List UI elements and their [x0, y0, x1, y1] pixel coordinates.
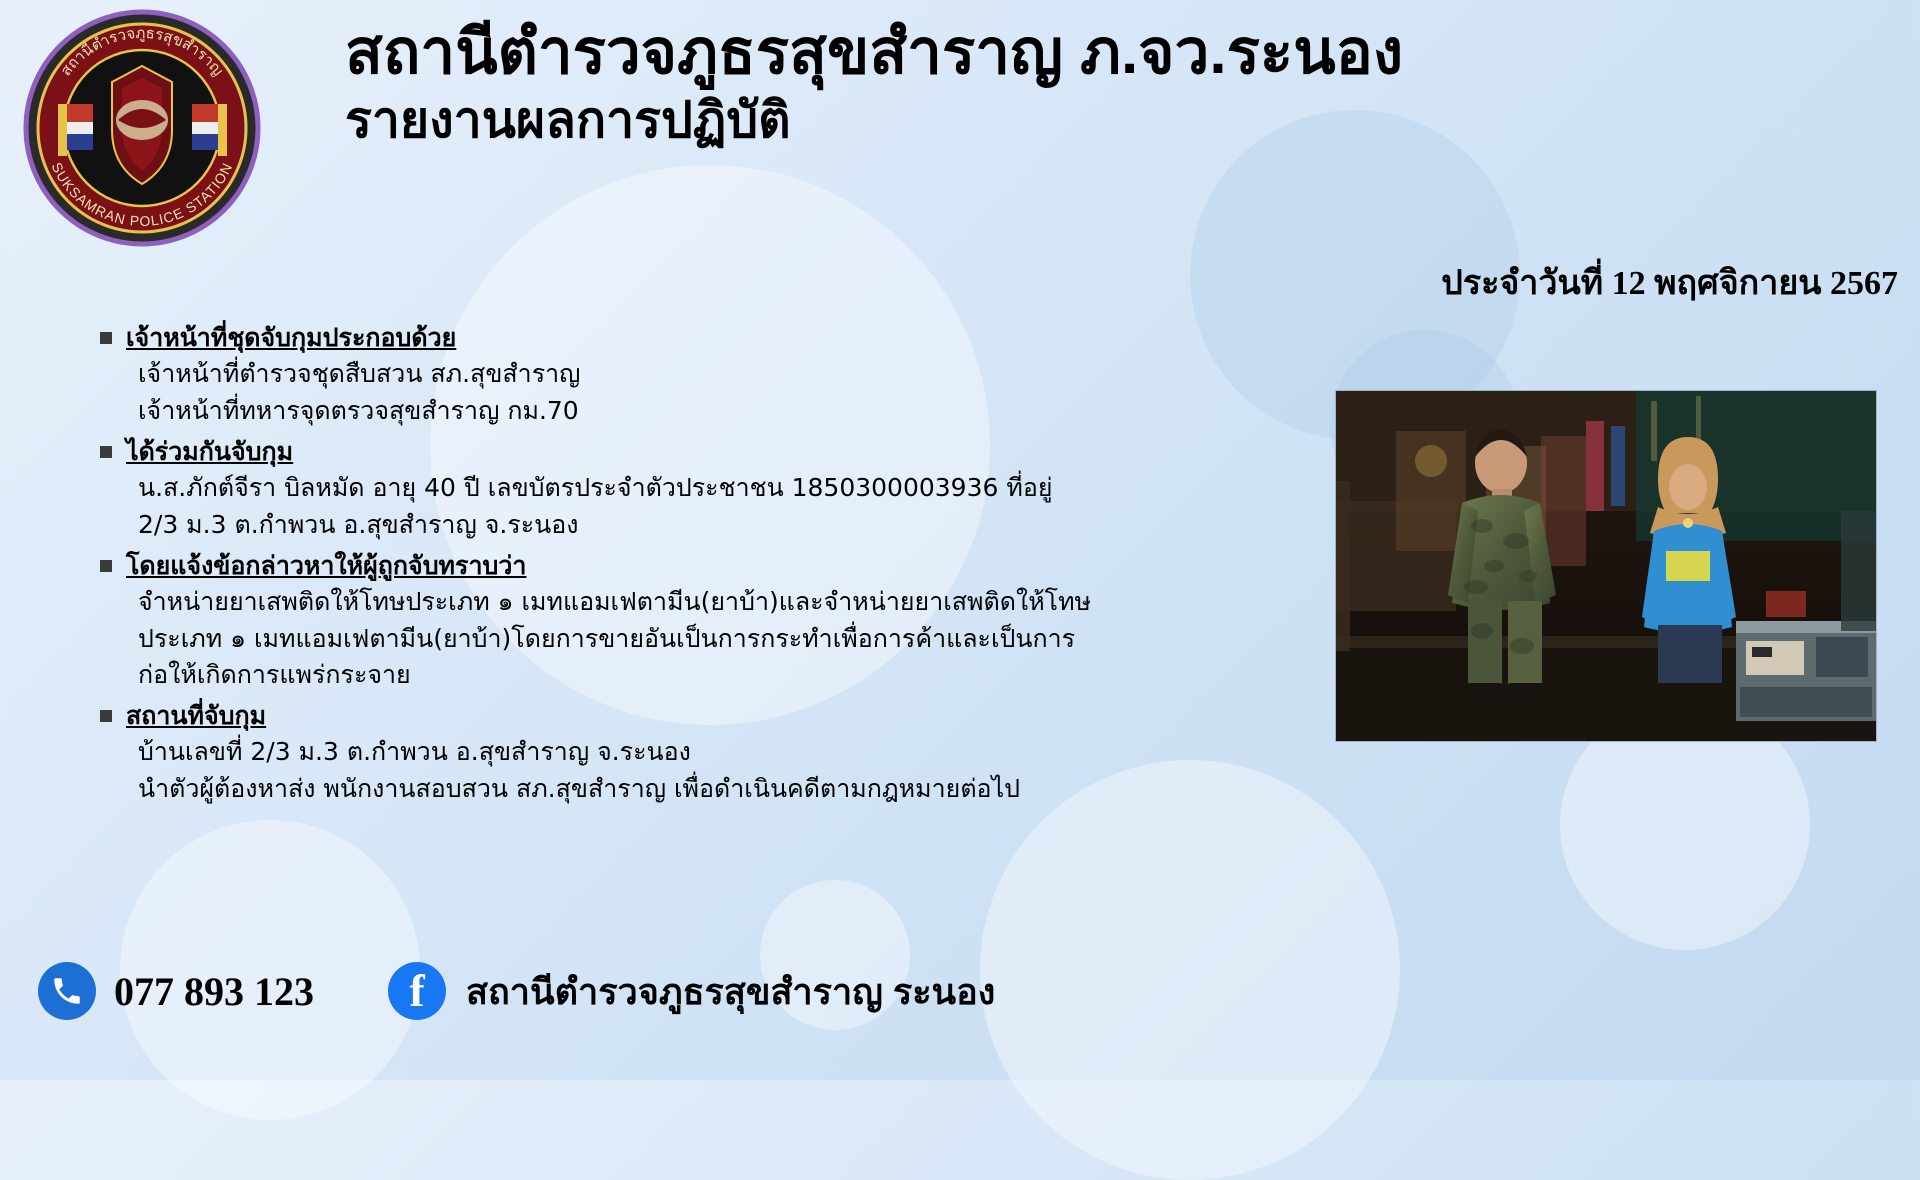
section-heading-row: สถานที่จับกุม [100, 698, 1200, 734]
phone-icon [38, 962, 96, 1020]
section-heading: สถานที่จับกุม [126, 698, 266, 734]
section-line: น.ส.ภักต์จีรา บิลหมัด อายุ 40 ปี เลขบัตร… [138, 470, 1200, 507]
police-emblem-logo: สถานีตำรวจภูธรสุขสำราญ SUKSAMRAN POLICE … [22, 8, 262, 248]
section-block: เจ้าหน้าที่ชุดจับกุมประกอบด้วย เจ้าหน้าท… [100, 320, 1200, 430]
phone-number: 077 893 123 [114, 968, 314, 1015]
section-line: เจ้าหน้าที่ตำรวจชุดสืบสวน สภ.สุขสำราญ [138, 356, 1200, 393]
section-heading-row: ได้ร่วมกันจับกุม [100, 434, 1200, 470]
section-line: ก่อให้เกิดการแพร่กระจาย [138, 657, 1200, 694]
bullet-square-icon [100, 332, 112, 344]
section-line: บ้านเลขที่ 2/3 ม.3 ต.กำพวน อ.สุขสำราญ จ.… [138, 734, 1200, 771]
page-footer: 077 893 123 f สถานีตำรวจภูธรสุขสำราญ ระน… [0, 940, 1920, 1080]
bullet-square-icon [100, 446, 112, 458]
section-block: โดยแจ้งข้อกล่าวหาให้ผู้ถูกจับทราบว่า จำห… [100, 548, 1200, 695]
section-heading: เจ้าหน้าที่ชุดจับกุมประกอบด้วย [126, 320, 456, 356]
section-block: ได้ร่วมกันจับกุม น.ส.ภักต์จีรา บิลหมัด อ… [100, 434, 1200, 544]
report-body: เจ้าหน้าที่ชุดจับกุมประกอบด้วย เจ้าหน้าท… [100, 320, 1200, 812]
arrest-photo [1335, 390, 1877, 742]
bullet-square-icon [100, 710, 112, 722]
section-line: ประเภท ๑ เมทแอมเฟตามีน(ยาบ้า)โดยการขายอั… [138, 621, 1200, 658]
bullet-square-icon [100, 560, 112, 572]
section-line: นำตัวผู้ต้องหาส่ง พนักงานสอบสวน สภ.สุขสำ… [138, 771, 1200, 808]
section-heading: ได้ร่วมกันจับกุม [126, 434, 293, 470]
page-subtitle: รายงานผลการปฏิบัติ [345, 93, 1403, 148]
page-title: สถานีตำรวจภูธรสุขสำราญ ภ.จว.ระนอง [345, 20, 1403, 87]
report-date: ประจำวันที่ 12 พฤศจิกายน 2567 [1441, 255, 1898, 309]
facebook-icon: f [388, 962, 446, 1020]
section-heading: โดยแจ้งข้อกล่าวหาให้ผู้ถูกจับทราบว่า [126, 548, 526, 584]
section-heading-row: โดยแจ้งข้อกล่าวหาให้ผู้ถูกจับทราบว่า [100, 548, 1200, 584]
phone-contact[interactable]: 077 893 123 [38, 962, 314, 1020]
section-line: 2/3 ม.3 ต.กำพวน อ.สุขสำราญ จ.ระนอง [138, 507, 1200, 544]
facebook-contact[interactable]: f สถานีตำรวจภูธรสุขสำราญ ระนอง [388, 962, 995, 1020]
section-heading-row: เจ้าหน้าที่ชุดจับกุมประกอบด้วย [100, 320, 1200, 356]
facebook-page-name: สถานีตำรวจภูธรสุขสำราญ ระนอง [466, 963, 995, 1020]
page-header: สถานีตำรวจภูธรสุขสำราญ SUKSAMRAN POLICE … [0, 0, 1920, 250]
section-line: เจ้าหน้าที่ทหารจุดตรวจสุขสำราญ กม.70 [138, 393, 1200, 430]
section-line: จำหน่ายยาเสพติดให้โทษประเภท ๑ เมทแอมเฟตา… [138, 584, 1200, 621]
section-block: สถานที่จับกุม บ้านเลขที่ 2/3 ม.3 ต.กำพวน… [100, 698, 1200, 808]
title-block: สถานีตำรวจภูธรสุขสำราญ ภ.จว.ระนอง รายงาน… [345, 20, 1403, 148]
